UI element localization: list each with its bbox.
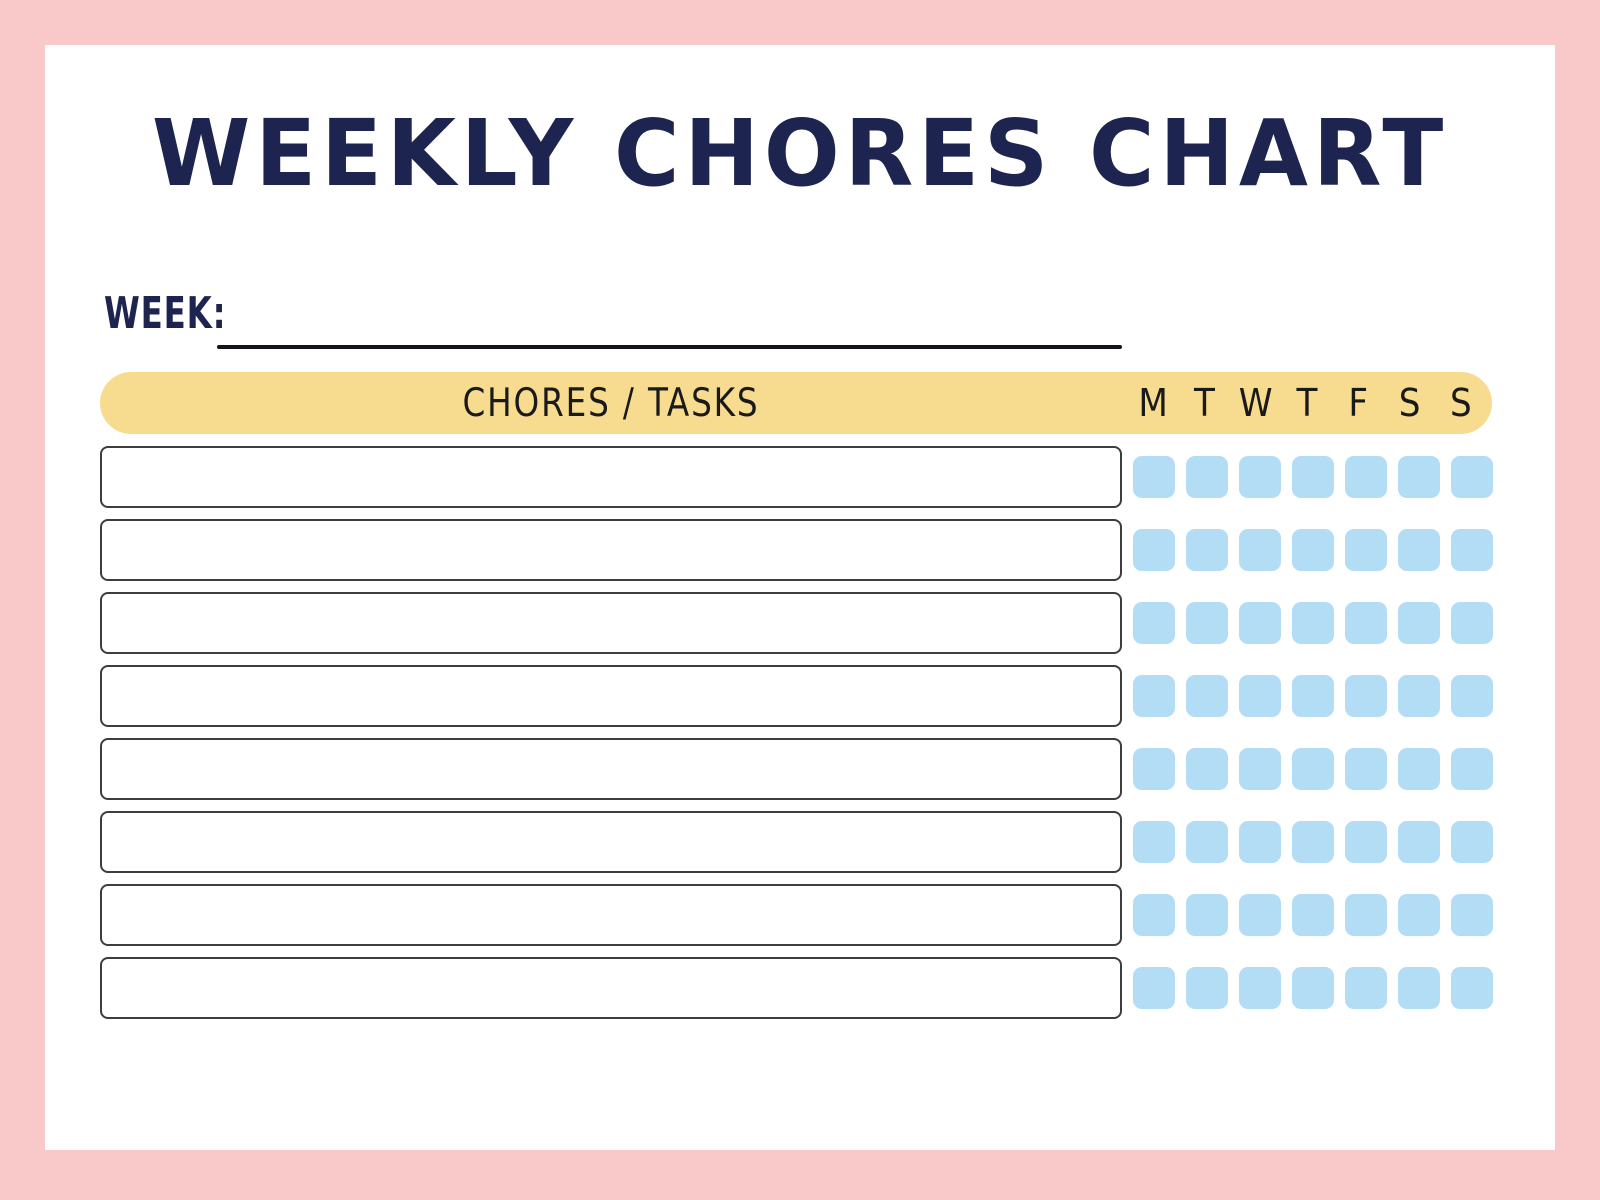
checkbox-wednesday[interactable] — [1239, 821, 1281, 863]
day-header-monday: M — [1133, 384, 1173, 422]
checkbox-monday[interactable] — [1133, 748, 1175, 790]
task-input-box[interactable] — [100, 884, 1122, 946]
week-input-line[interactable] — [217, 345, 1122, 349]
task-input-box[interactable] — [100, 665, 1122, 727]
day-header-friday: F — [1338, 384, 1378, 422]
checkbox-saturday[interactable] — [1398, 602, 1440, 644]
checkbox-wednesday[interactable] — [1239, 967, 1281, 1009]
day-header-tuesday: T — [1184, 384, 1224, 422]
checkbox-monday[interactable] — [1133, 967, 1175, 1009]
day-checkbox-group — [1133, 446, 1493, 508]
task-input-box[interactable] — [100, 592, 1122, 654]
checkbox-wednesday[interactable] — [1239, 894, 1281, 936]
checkbox-tuesday[interactable] — [1186, 602, 1228, 644]
day-checkbox-group — [1133, 665, 1493, 727]
checkbox-monday[interactable] — [1133, 821, 1175, 863]
day-column-headers: M T W T F S S — [1133, 372, 1481, 434]
checkbox-monday[interactable] — [1133, 894, 1175, 936]
checkbox-sunday[interactable] — [1451, 675, 1493, 717]
week-label: WEEK: — [104, 292, 226, 336]
checkbox-tuesday[interactable] — [1186, 529, 1228, 571]
day-checkbox-group — [1133, 592, 1493, 654]
checkbox-tuesday[interactable] — [1186, 456, 1228, 498]
table-row — [0, 665, 1600, 727]
checkbox-sunday[interactable] — [1451, 821, 1493, 863]
checkbox-wednesday[interactable] — [1239, 602, 1281, 644]
checkbox-sunday[interactable] — [1451, 456, 1493, 498]
day-header-thursday: T — [1287, 384, 1327, 422]
day-header-saturday: S — [1389, 384, 1429, 422]
checkbox-saturday[interactable] — [1398, 529, 1440, 571]
day-checkbox-group — [1133, 738, 1493, 800]
table-row — [0, 957, 1600, 1019]
checkbox-tuesday[interactable] — [1186, 675, 1228, 717]
checkbox-thursday[interactable] — [1292, 821, 1334, 863]
checkbox-wednesday[interactable] — [1239, 456, 1281, 498]
day-checkbox-group — [1133, 519, 1493, 581]
page-title: WEEKLY CHORES CHART — [24, 108, 1576, 200]
checkbox-tuesday[interactable] — [1186, 967, 1228, 1009]
checkbox-tuesday[interactable] — [1186, 894, 1228, 936]
checkbox-friday[interactable] — [1345, 602, 1387, 644]
checkbox-friday[interactable] — [1345, 821, 1387, 863]
checkbox-monday[interactable] — [1133, 529, 1175, 571]
table-row — [0, 446, 1600, 508]
day-checkbox-group — [1133, 884, 1493, 946]
task-input-box[interactable] — [100, 519, 1122, 581]
day-header-sunday: S — [1441, 384, 1481, 422]
table-row — [0, 738, 1600, 800]
checkbox-sunday[interactable] — [1451, 602, 1493, 644]
table-row — [0, 811, 1600, 873]
checkbox-saturday[interactable] — [1398, 967, 1440, 1009]
checkbox-monday[interactable] — [1133, 675, 1175, 717]
checkbox-friday[interactable] — [1345, 529, 1387, 571]
chores-rows — [0, 446, 1600, 1030]
checkbox-friday[interactable] — [1345, 748, 1387, 790]
chores-chart-page: WEEKLY CHORES CHART WEEK: CHORES / TASKS… — [0, 0, 1600, 1200]
checkbox-saturday[interactable] — [1398, 675, 1440, 717]
checkbox-friday[interactable] — [1345, 894, 1387, 936]
checkbox-thursday[interactable] — [1292, 894, 1334, 936]
table-row — [0, 592, 1600, 654]
checkbox-tuesday[interactable] — [1186, 821, 1228, 863]
table-row — [0, 884, 1600, 946]
task-input-box[interactable] — [100, 957, 1122, 1019]
checkbox-thursday[interactable] — [1292, 748, 1334, 790]
checkbox-sunday[interactable] — [1451, 967, 1493, 1009]
checkbox-friday[interactable] — [1345, 675, 1387, 717]
checkbox-saturday[interactable] — [1398, 894, 1440, 936]
table-row — [0, 519, 1600, 581]
day-checkbox-group — [1133, 811, 1493, 873]
task-input-box[interactable] — [100, 811, 1122, 873]
checkbox-thursday[interactable] — [1292, 456, 1334, 498]
checkbox-thursday[interactable] — [1292, 602, 1334, 644]
checkbox-wednesday[interactable] — [1239, 675, 1281, 717]
checkbox-saturday[interactable] — [1398, 748, 1440, 790]
checkbox-thursday[interactable] — [1292, 529, 1334, 571]
checkbox-sunday[interactable] — [1451, 894, 1493, 936]
checkbox-tuesday[interactable] — [1186, 748, 1228, 790]
checkbox-wednesday[interactable] — [1239, 748, 1281, 790]
checkbox-thursday[interactable] — [1292, 967, 1334, 1009]
checkbox-friday[interactable] — [1345, 967, 1387, 1009]
chores-tasks-column-header: CHORES / TASKS — [136, 372, 1086, 434]
checkbox-thursday[interactable] — [1292, 675, 1334, 717]
checkbox-monday[interactable] — [1133, 602, 1175, 644]
checkbox-sunday[interactable] — [1451, 529, 1493, 571]
checkbox-sunday[interactable] — [1451, 748, 1493, 790]
checkbox-monday[interactable] — [1133, 456, 1175, 498]
checkbox-saturday[interactable] — [1398, 821, 1440, 863]
checkbox-saturday[interactable] — [1398, 456, 1440, 498]
checkbox-wednesday[interactable] — [1239, 529, 1281, 571]
checkbox-friday[interactable] — [1345, 456, 1387, 498]
task-input-box[interactable] — [100, 738, 1122, 800]
task-input-box[interactable] — [100, 446, 1122, 508]
day-checkbox-group — [1133, 957, 1493, 1019]
day-header-wednesday: W — [1236, 384, 1276, 422]
